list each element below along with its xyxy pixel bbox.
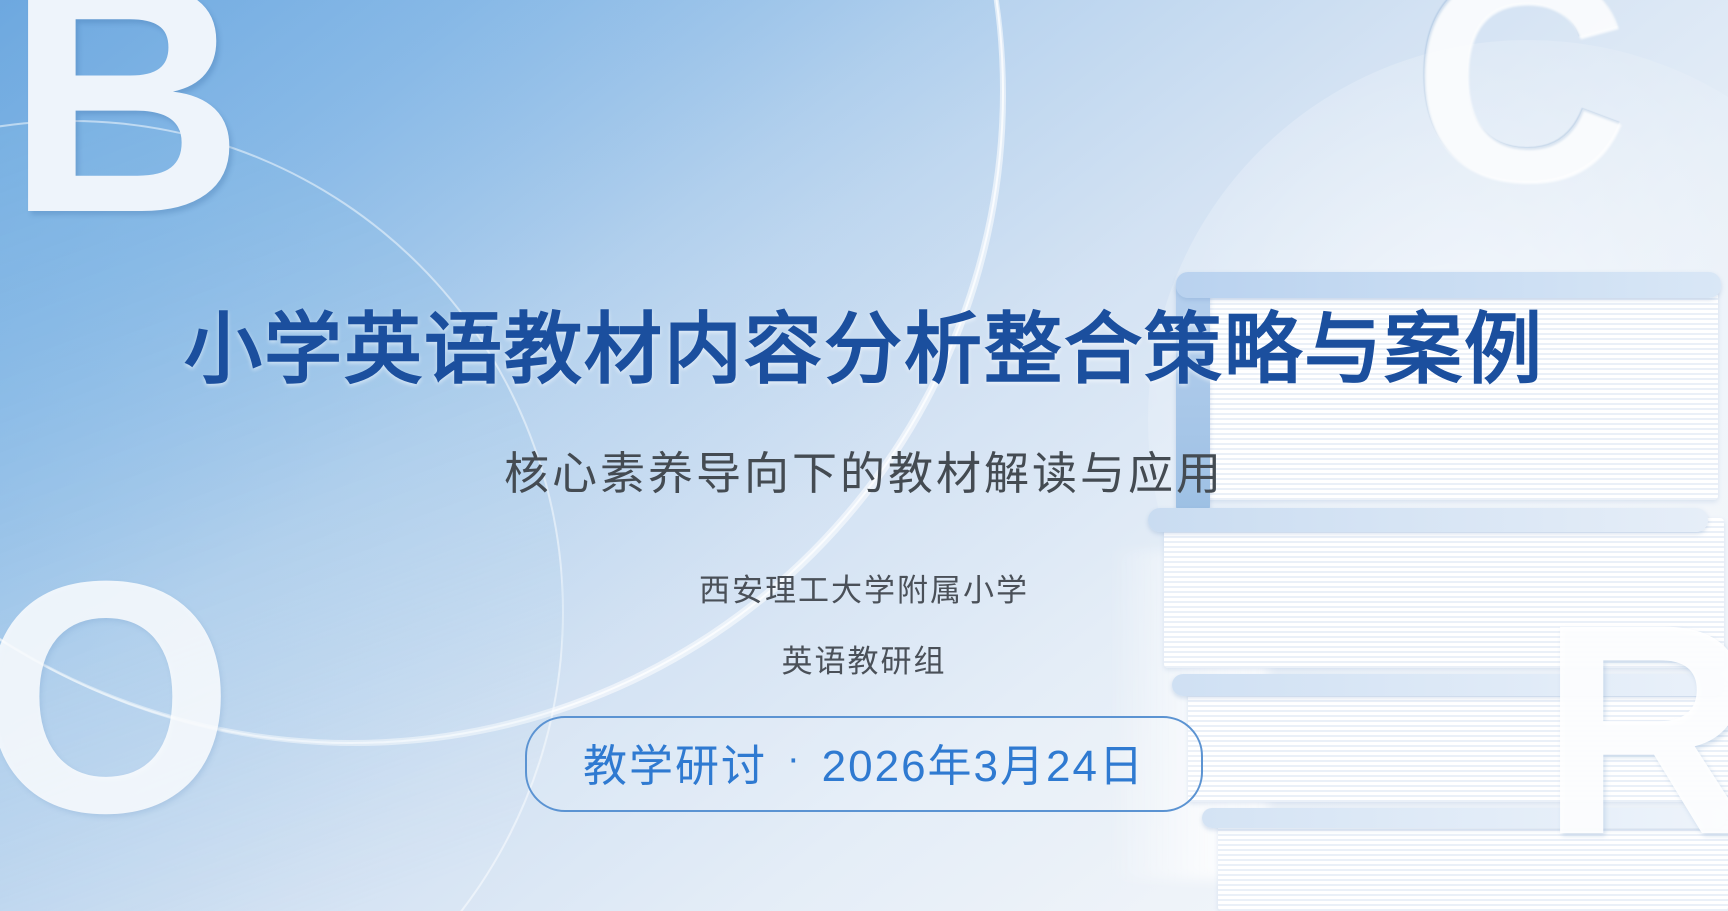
department-name: 英语教研组: [0, 636, 1728, 681]
presentation-title-slide: B C O R 小学英语教材内容分析整合策略与案例 核心素养导向下的教材解读与应…: [0, 0, 1728, 911]
date-badge-container: 教学研讨 · 2026年3月24日: [0, 716, 1728, 812]
event-date: 2026年3月24日: [822, 730, 1145, 794]
slide-content: 小学英语教材内容分析整合策略与案例 核心素养导向下的教材解读与应用 西安理工大学…: [0, 0, 1728, 911]
presenter-block: 西安理工大学附属小学 英语教研组: [0, 565, 1728, 681]
organization-name: 西安理工大学附属小学: [0, 565, 1728, 610]
slide-main-title: 小学英语教材内容分析整合策略与案例: [0, 287, 1728, 399]
event-date-badge: 教学研讨 · 2026年3月24日: [525, 716, 1203, 812]
slide-subtitle: 核心素养导向下的教材解读与应用: [0, 437, 1728, 502]
badge-separator-dot: ·: [787, 740, 802, 778]
event-label: 教学研讨: [583, 730, 767, 794]
